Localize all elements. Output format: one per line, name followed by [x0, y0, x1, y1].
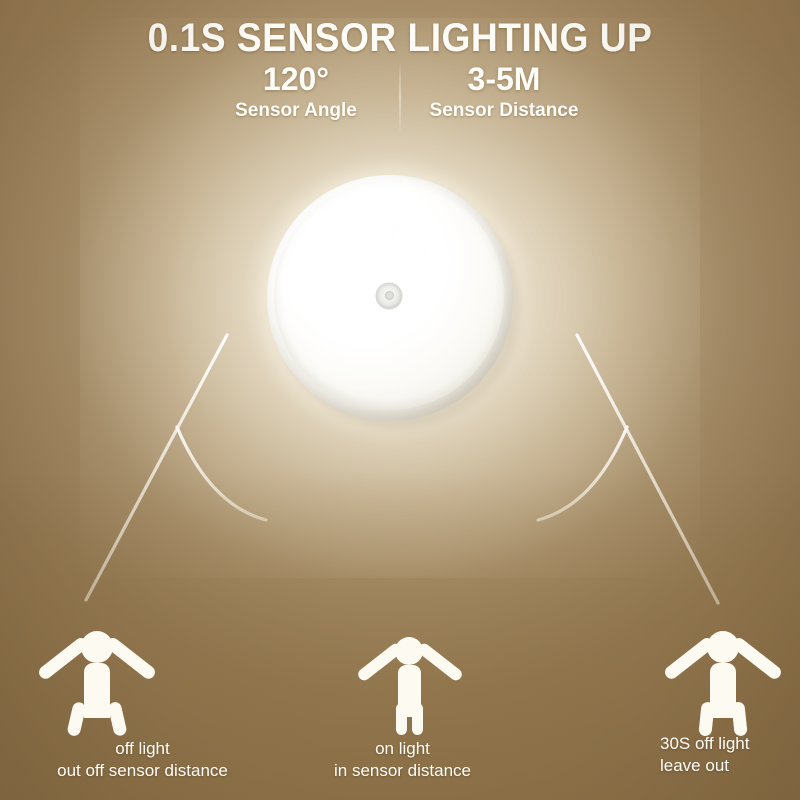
lamp-light-hotspot — [320, 213, 463, 346]
person-arms-raised-icon-center — [356, 625, 462, 735]
caption-left-line1: off light — [0, 738, 285, 760]
person-arms-raised-icon-left — [36, 618, 158, 736]
caption-center-line2: in sensor distance — [290, 760, 515, 782]
spec-distance-label: Sensor Distance — [401, 99, 607, 123]
caption-center: on light in sensor distance — [290, 738, 515, 782]
spec-angle-value: 120° — [193, 62, 399, 96]
spec-sensor-angle: 120° Sensor Angle — [193, 62, 399, 123]
caption-right: 30S off light leave out — [660, 733, 800, 777]
infographic-canvas: 0.1S SENSOR LIGHTING UP 120° Sensor Angl… — [0, 0, 800, 800]
lamp-diffuser-panel — [274, 181, 504, 410]
sensor-light-product — [267, 175, 513, 421]
spec-angle-label: Sensor Angle — [193, 99, 399, 123]
spec-row: 120° Sensor Angle 3-5M Sensor Distance — [0, 62, 800, 130]
caption-left-line2: out off sensor distance — [0, 760, 285, 782]
spec-sensor-distance: 3-5M Sensor Distance — [401, 62, 607, 123]
caption-center-line1: on light — [290, 738, 515, 760]
caption-right-line2: leave out — [660, 755, 800, 777]
pir-sensor-dome-icon — [377, 283, 402, 308]
page-title: 0.1S SENSOR LIGHTING UP — [28, 16, 772, 61]
person-arms-raised-icon-right — [662, 618, 784, 736]
spec-distance-value: 3-5M — [401, 62, 607, 96]
caption-right-line1: 30S off light — [660, 733, 800, 755]
caption-left: off light out off sensor distance — [0, 738, 285, 782]
